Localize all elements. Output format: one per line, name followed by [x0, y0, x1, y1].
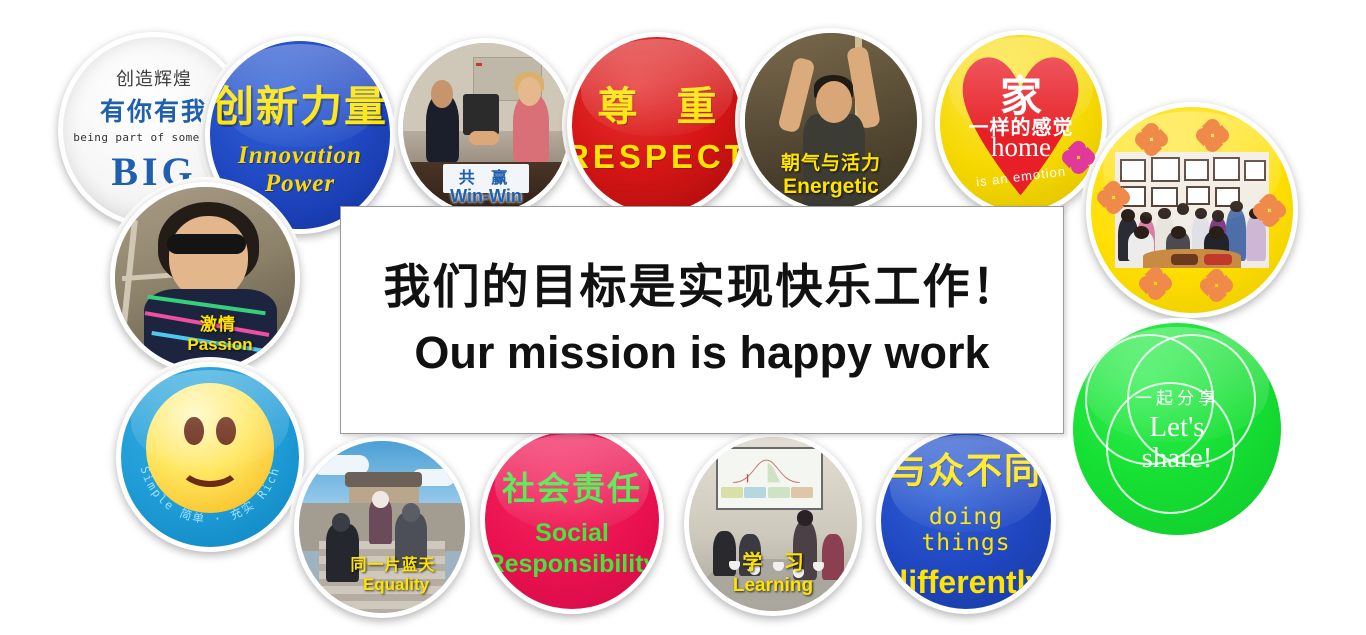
mission-banner: 我们的目标是实现快乐工作！ Our mission is happy work: [340, 206, 1064, 434]
bubble-respect-inner: 尊 重 RESPECT: [572, 37, 742, 213]
bubble-smiley-inner: Simple 简单 · 充实 Rich: [121, 367, 299, 547]
share-text-block: 一起分享 Let's share!: [1135, 384, 1219, 475]
bubble-energetic-inner: 朝气与活力 Energetic: [745, 33, 917, 209]
bubble-social-responsibility[interactable]: 社会责任 Social Responsibility: [480, 426, 664, 614]
social-english-line2: Responsibility: [487, 550, 658, 579]
bubble-home-is-an-emotion[interactable]: 家 一样的感觉 home is an emotion: [935, 30, 1107, 216]
bubble-energetic[interactable]: 朝气与活力 Energetic: [740, 28, 922, 214]
mission-english: Our mission is happy work: [414, 328, 989, 378]
bubble-simple-rich-smiley[interactable]: Simple 简单 · 充实 Rich: [116, 362, 304, 552]
respect-english: RESPECT: [572, 138, 742, 176]
differently-english-line1: doing things: [881, 504, 1051, 556]
bubble-equality[interactable]: 同一片蓝天 Equality: [294, 436, 470, 618]
passion-english: Passion: [187, 335, 252, 355]
share-english-line1: Let's: [1135, 411, 1219, 444]
bubble-home-inner: 家 一样的感觉 home is an emotion: [940, 35, 1102, 211]
flower-icon: [1139, 267, 1173, 301]
bubble-equality-inner: 同一片蓝天 Equality: [299, 441, 465, 613]
bubble-learning[interactable]: 学 习 Learning: [684, 432, 862, 616]
learning-chinese: 学 习: [734, 546, 812, 575]
flower-icon: [1196, 119, 1230, 153]
culture-values-poster: 创造辉煌 有你有我 being part of something BIG 创新…: [0, 0, 1366, 635]
differently-chinese: 与众不同: [890, 442, 1042, 494]
flower-icon: [1097, 181, 1131, 215]
bubble-winwin-inner: 共 赢 Win-Win: [403, 43, 569, 213]
bubble-lets-share[interactable]: 一起分享 Let's share!: [1068, 318, 1286, 540]
differently-english-line2: differently: [889, 564, 1044, 601]
energetic-chinese: 朝气与活力: [781, 148, 881, 175]
bell-curve-icon: [726, 456, 807, 484]
bubble-team-group-photo[interactable]: [1086, 102, 1298, 318]
bubble-share-inner: 一起分享 Let's share!: [1073, 323, 1281, 535]
bubble-social-inner: 社会责任 Social Responsibility: [485, 431, 659, 609]
bubble-win-win[interactable]: 共 赢 Win-Win: [398, 38, 574, 218]
flower-icon: [1253, 194, 1287, 228]
svg-text:Simple 简单 · 充实 Rich: Simple 简单 · 充实 Rich: [138, 465, 283, 527]
bubble-differently-inner: 与众不同 doing things differently: [881, 433, 1051, 609]
flower-icon: [1135, 123, 1169, 157]
big-line2: 有你有我: [100, 92, 208, 128]
group-photo: [1115, 152, 1269, 267]
bubble-respect[interactable]: 尊 重 RESPECT: [567, 32, 747, 218]
innovation-chinese: 创新力量: [212, 73, 388, 134]
flower-icon: [1200, 269, 1234, 303]
social-chinese: 社会责任: [502, 462, 642, 510]
share-chinese: 一起分享: [1135, 384, 1219, 409]
respect-chinese: 尊 重: [583, 74, 730, 132]
bubble-group-inner: [1091, 107, 1293, 313]
bubble-doing-things-differently[interactable]: 与众不同 doing things differently: [876, 428, 1056, 614]
bubble-passion-inner: 激情 Passion: [115, 187, 295, 369]
big-line1: 创造辉煌: [116, 65, 192, 91]
social-english-line1: Social: [535, 519, 609, 548]
equality-chinese: 同一片蓝天: [350, 551, 435, 575]
mission-chinese: 我们的目标是实现快乐工作！: [384, 262, 1021, 314]
smiley-arc-label: Simple 简单 · 充实 Rich: [138, 465, 283, 527]
equality-english: Equality: [363, 575, 429, 595]
learning-english: Learning: [733, 575, 813, 597]
share-english-line2: share!: [1135, 442, 1219, 475]
flower-icon: [1062, 141, 1096, 175]
energetic-english: Energetic: [783, 175, 879, 199]
winwin-english: Win-Win: [450, 186, 522, 207]
smiley-arc-text: Simple 简单 · 充实 Rich: [121, 367, 299, 547]
bubble-passion[interactable]: 激情 Passion: [110, 182, 300, 374]
bubble-learning-inner: 学 习 Learning: [689, 437, 857, 611]
passion-chinese: 激情: [200, 310, 236, 335]
winwin-chinese: 共 赢: [459, 164, 513, 188]
